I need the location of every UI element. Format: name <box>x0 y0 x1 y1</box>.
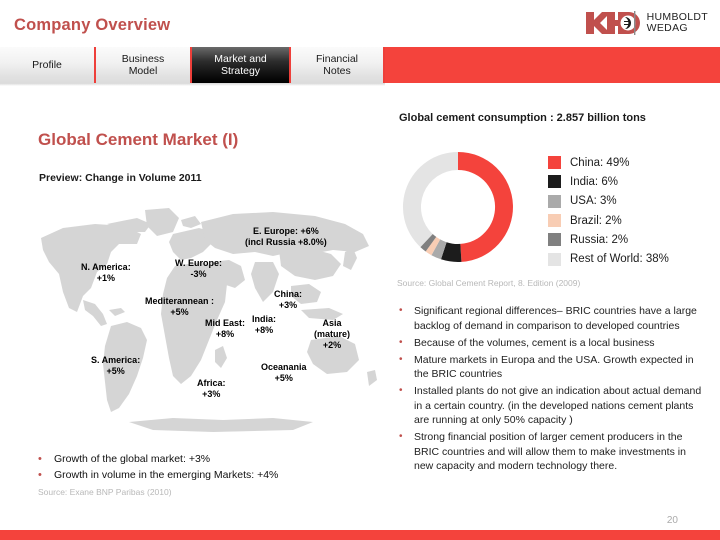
legend-swatch-icon <box>548 156 561 169</box>
list-item: • Growth in volume in the emerging Marke… <box>38 468 368 482</box>
map-label-e-europe: E. Europe: +6%(incl Russia +8.0%) <box>245 226 327 248</box>
bullet-dot-icon: • <box>38 468 54 482</box>
donut-chart-graphic <box>398 143 523 271</box>
legend-item-china: China: 49% <box>548 153 669 172</box>
list-item-label: Because of the volumes, cement is a loca… <box>414 336 654 351</box>
donut-legend: China: 49% India: 6% USA: 3% Brazil: 2% … <box>548 153 669 269</box>
map-label-mid-east: Mid East:+8% <box>205 318 245 340</box>
tab-bar-shadow <box>0 83 385 86</box>
map-label-asia-mature: Asia(mature)+2% <box>314 318 350 351</box>
list-item-label: Growth of the global market: +3% <box>54 452 210 466</box>
legend-swatch-icon <box>548 233 561 246</box>
tab-business-model[interactable]: BusinessModel <box>96 47 192 83</box>
list-item: • Strong financial position of larger ce… <box>399 430 704 474</box>
tab-bar[interactable]: Profile BusinessModel Market andStrategy… <box>0 47 720 83</box>
map-label-n-america: N. America:+1% <box>81 262 131 284</box>
legend-item-label: Rest of World: 38% <box>570 253 669 265</box>
list-item-label: Installed plants do not give an indicati… <box>414 384 704 428</box>
logo: HUMBOLDT WEDAG <box>585 10 708 36</box>
left-bullet-list: • Growth of the global market: +3% • Gro… <box>38 452 368 484</box>
list-item-label: Growth in volume in the emerging Markets… <box>54 468 278 482</box>
legend-item-label: Brazil: 2% <box>570 215 622 227</box>
legend-item-label: China: 49% <box>570 157 629 169</box>
tab-financial-notes[interactable]: FinancialNotes <box>291 47 385 83</box>
legend-item-label: India: 6% <box>570 176 618 188</box>
list-item-label: Strong financial position of larger ceme… <box>414 430 704 474</box>
legend-swatch-icon <box>548 175 561 188</box>
list-item: • Mature markets in Europa and the USA. … <box>399 353 704 382</box>
bullet-dot-icon: • <box>399 353 414 368</box>
map-label-mediterannean: Mediterannean :+5% <box>145 296 214 318</box>
list-item: • Significant regional differences– BRIC… <box>399 304 704 333</box>
tab-profile[interactable]: Profile <box>0 47 96 83</box>
section-title: Global Cement Market (I) <box>38 130 238 150</box>
legend-item-usa: USA: 3% <box>548 192 669 211</box>
donut-source-note: Source: Global Cement Report, 8. Edition… <box>397 278 580 288</box>
logo-wordmark: HUMBOLDT WEDAG <box>647 12 708 35</box>
tab-market-and-strategy[interactable]: Market andStrategy <box>192 47 291 83</box>
list-item: • Installed plants do not give an indica… <box>399 384 704 428</box>
world-map-figure: N. America:+1% W. Europe:-3% E. Europe: … <box>33 200 385 438</box>
list-item: • Because of the volumes, cement is a lo… <box>399 336 704 351</box>
page-title: Company Overview <box>14 16 170 35</box>
right-bullet-list: • Significant regional differences– BRIC… <box>399 304 704 476</box>
list-item-label: Significant regional differences– BRIC c… <box>414 304 704 333</box>
legend-item-india: India: 6% <box>548 172 669 191</box>
legend-item-russia: Russia: 2% <box>548 230 669 249</box>
map-label-w-europe: W. Europe:-3% <box>175 258 222 280</box>
bullet-dot-icon: • <box>399 384 414 399</box>
legend-item-label: Russia: 2% <box>570 234 628 246</box>
bullet-dot-icon: • <box>38 452 54 466</box>
list-item-label: Mature markets in Europa and the USA. Gr… <box>414 353 704 382</box>
bullet-dot-icon: • <box>399 336 414 351</box>
donut-chart <box>398 143 523 273</box>
legend-item-brazil: Brazil: 2% <box>548 211 669 230</box>
legend-item-rest-of-world: Rest of World: 38% <box>548 249 669 268</box>
khd-logo-icon <box>585 10 641 36</box>
donut-slice-china <box>458 152 513 262</box>
slide-header: Company Overview HUMBOLDT WEDAG <box>0 0 720 46</box>
legend-item-label: USA: 3% <box>570 195 617 207</box>
preview-label: Preview: Change in Volume 2011 <box>39 172 202 184</box>
donut-slice-rest-of-world <box>403 152 458 247</box>
consumption-title: Global cement consumption : 2.857 billio… <box>399 112 646 124</box>
left-source-note: Source: Exane BNP Paribas (2010) <box>38 487 172 497</box>
map-label-s-america: S. America:+5% <box>91 355 140 377</box>
legend-swatch-icon <box>548 253 561 266</box>
legend-swatch-icon <box>548 195 561 208</box>
page-number: 20 <box>667 515 678 526</box>
map-label-africa: Africa:+3% <box>197 378 226 400</box>
logo-line-2: WEDAG <box>647 23 708 35</box>
map-label-india: India:+8% <box>252 314 276 336</box>
map-label-oceanania: Oceanania+5% <box>261 362 307 384</box>
tab-bar-filler <box>385 47 720 83</box>
legend-swatch-icon <box>548 214 561 227</box>
bullet-dot-icon: • <box>399 304 414 319</box>
map-label-china: China:+3% <box>274 289 302 311</box>
footer-bar <box>0 530 720 540</box>
list-item: • Growth of the global market: +3% <box>38 452 368 466</box>
bullet-dot-icon: • <box>399 430 414 445</box>
